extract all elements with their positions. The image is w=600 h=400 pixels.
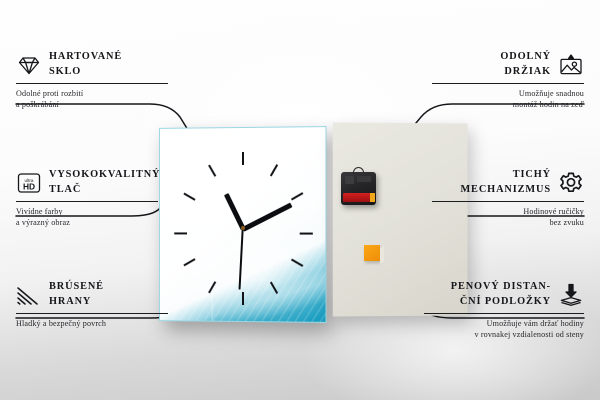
stack-down-arrow-icon (558, 282, 584, 308)
clock-tick-3 (300, 233, 313, 235)
feature-description: Hodinové ručičky bez zvuku (432, 206, 584, 228)
feature-divider (16, 313, 168, 314)
infographic-stage: HARTOVANÉ SKLO Odolné proti rozbití a po… (0, 0, 600, 400)
feature-silent-mechanism[interactable]: TICHÝ MECHANIZMUS Hodinové ručičky bez z… (432, 168, 584, 228)
feature-high-quality-print[interactable]: ultra HD VYSOKOKVALITNÝ TLAČ Vivídne far… (16, 168, 168, 228)
bevel-stripes-icon (16, 282, 42, 308)
feature-title: PENOVÝ DISTAN- ČNÍ PODLOŽKY (451, 280, 551, 309)
feature-tempered-glass[interactable]: HARTOVANÉ SKLO Odolné proti rozbití a po… (16, 50, 168, 110)
feature-header: ODOLNÝ DRŽIAK (432, 50, 584, 79)
feature-divider (432, 201, 584, 202)
feature-header: PENOVÝ DISTAN- ČNÍ PODLOŽKY (424, 280, 584, 309)
feature-header: HARTOVANÉ SKLO (16, 50, 168, 79)
feature-title: TICHÝ MECHANIZMUS (460, 168, 551, 197)
mechanism-dial-left (345, 176, 354, 184)
feature-title: VYSOKOKVALITNÝ TLAČ (49, 168, 160, 197)
feature-durable-hanger[interactable]: ODOLNÝ DRŽIAK Umožňuje snadnou montáž ho… (432, 50, 584, 110)
foam-spacer-pad-side (380, 246, 384, 264)
feature-description: Vivídne farby a výrazný obraz (16, 206, 168, 228)
feature-header: BRÚSENÉ HRANY (16, 280, 168, 309)
clock-mechanism (341, 172, 376, 205)
feature-description: Odolné proti rozbití a poškrábání (16, 88, 168, 110)
feature-title: HARTOVANÉ SKLO (49, 50, 122, 79)
feature-description: Umožňuje vám držať hodiny v rovnakej vzd… (424, 318, 584, 340)
feature-header: ultra HD VYSOKOKVALITNÝ TLAČ (16, 168, 168, 197)
feature-divider (16, 201, 158, 202)
ultra-hd-icon: ultra HD (16, 170, 42, 196)
gear-icon (558, 170, 584, 196)
clock-tick-9 (174, 232, 187, 234)
feature-description: Hladký a bezpečný povrch (16, 318, 168, 329)
feature-divider (432, 83, 584, 84)
feature-title: BRÚSENÉ HRANY (49, 280, 104, 309)
svg-text:HD: HD (23, 181, 35, 191)
foam-spacer-pad (364, 245, 380, 261)
mechanism-dial-right (357, 176, 371, 182)
picture-hanger-icon (558, 52, 584, 78)
feature-description: Umožňuje snadnou montáž hodin na zeď (432, 88, 584, 110)
battery-positive-terminal (370, 193, 375, 202)
glass-clock-face (159, 126, 326, 323)
feature-ground-edges[interactable]: BRÚSENÉ HRANY Hladký a bezpečný povrch (16, 280, 168, 329)
feature-title: ODOLNÝ DRŽIAK (500, 50, 551, 79)
clock-hand-hub (241, 226, 245, 230)
feature-divider (424, 313, 584, 314)
diamond-icon (16, 52, 42, 78)
feature-foam-spacers[interactable]: PENOVÝ DISTAN- ČNÍ PODLOŽKY Umožňuje vám… (424, 280, 584, 340)
clock-tick-6 (242, 292, 244, 305)
feature-header: TICHÝ MECHANIZMUS (432, 168, 584, 197)
feature-divider (16, 83, 168, 84)
clock-tick-12 (242, 152, 244, 165)
mechanism-hanger-loop (353, 167, 364, 174)
